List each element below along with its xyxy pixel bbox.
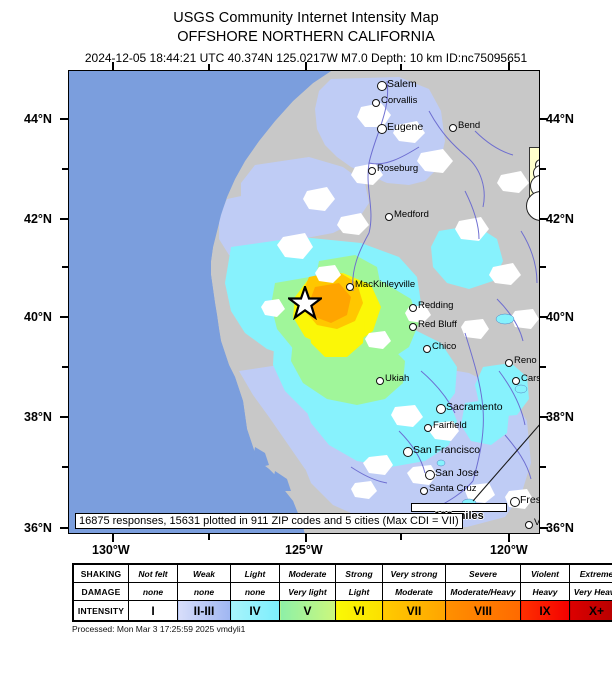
city-marker	[525, 521, 533, 529]
scale-row-intensity: INTENSITY III-IIIIVVVIVIIVIIIIXX+	[73, 601, 612, 622]
city-marker	[423, 345, 431, 353]
lat-label-40n: 40°N	[24, 310, 52, 324]
event-region-title: OFFSHORE NORTHERN CALIFORNIA	[0, 28, 612, 47]
scale-cell-intensity: VIII	[446, 601, 521, 622]
lat-label-44n: 44°N	[24, 112, 52, 126]
city-label: Santa Cruz	[429, 483, 477, 494]
scale-cell-intensity: IX	[521, 601, 570, 622]
scale-row-shaking: SHAKING Not feltWeakLightModerateStrongV…	[73, 564, 612, 583]
city-label: Redding	[418, 300, 453, 311]
city-label: Medford	[394, 209, 429, 220]
city-marker	[377, 124, 387, 134]
scale-row-label-intensity: INTENSITY	[73, 601, 129, 622]
city-marker	[377, 81, 387, 91]
lat-label-44n-right: 44°N	[546, 112, 574, 126]
city-marker	[505, 359, 513, 367]
scale-cell-shaking: Light	[231, 564, 280, 583]
city-marker	[403, 447, 413, 457]
scale-cell-damage: none	[178, 583, 231, 601]
scale-cell-shaking: Not felt	[129, 564, 178, 583]
lon-label-130w: 130°W	[92, 543, 130, 557]
city-label: Fresno	[520, 494, 539, 506]
scale-cell-shaking: Violent	[521, 564, 570, 583]
scale-cell-shaking: Very strong	[383, 564, 446, 583]
scale-cell-shaking: Severe	[446, 564, 521, 583]
header-block: USGS Community Internet Intensity Map OF…	[0, 0, 612, 69]
city-marker	[425, 470, 435, 480]
city-label: Carson City	[521, 373, 539, 384]
scale-row-label-damage: DAMAGE	[73, 583, 129, 601]
city-label: Eugene	[387, 121, 423, 133]
scale-cell-intensity: X+	[570, 601, 612, 622]
lat-label-38n-right: 38°N	[546, 410, 574, 424]
scale-cell-shaking: Moderate	[280, 564, 336, 583]
processed-timestamp: Processed: Mon Mar 3 17:25:59 2025 vmdyl…	[72, 624, 245, 634]
city-marker	[409, 304, 417, 312]
city-marker	[436, 404, 446, 414]
lat-label-38n: 38°N	[24, 410, 52, 424]
intensity-scale-table: SHAKING Not feltWeakLightModerateStrongV…	[72, 563, 612, 622]
city-size-legend: CITY SIZE <10,00010,000+100,000+2M+	[529, 147, 539, 209]
lat-label-42n-right: 42°N	[546, 212, 574, 226]
scale-cell-intensity: IV	[231, 601, 280, 622]
scale-cell-intensity: V	[280, 601, 336, 622]
lon-label-125w: 125°W	[285, 543, 323, 557]
scale-cell-damage: Heavy	[521, 583, 570, 601]
city-label: Ukiah	[385, 373, 409, 384]
intensity-map[interactable]: SalemCorvallisEugeneBendRoseburgMedfordM…	[68, 70, 540, 534]
city-label: Reno	[514, 355, 537, 366]
scale-cell-shaking: Weak	[178, 564, 231, 583]
scale-cell-shaking: Extreme	[570, 564, 612, 583]
city-marker	[372, 99, 380, 107]
lat-label-36n: 36°N	[24, 521, 52, 535]
scale-cell-shaking: Strong	[336, 564, 383, 583]
city-marker	[510, 497, 520, 507]
city-marker	[512, 377, 520, 385]
city-marker	[346, 283, 354, 291]
scale-cell-damage: none	[231, 583, 280, 601]
city-label: MacKinleyville	[355, 279, 415, 290]
response-caption: 16875 responses, 15631 plotted in 911 ZI…	[75, 513, 463, 529]
scale-cell-damage: Very light	[280, 583, 336, 601]
scale-row-label-shaking: SHAKING	[73, 564, 129, 583]
city-label: Chico	[432, 341, 456, 352]
scale-cell-intensity: VII	[383, 601, 446, 622]
city-marker	[449, 124, 457, 132]
scale-cell-intensity: II-III	[178, 601, 231, 622]
scale-cell-intensity: I	[129, 601, 178, 622]
city-marker	[368, 167, 376, 175]
page-title: USGS Community Internet Intensity Map	[0, 0, 612, 28]
scale-cell-damage: none	[129, 583, 178, 601]
lat-label-40n-right: 40°N	[546, 310, 574, 324]
city-label: Roseburg	[377, 163, 418, 174]
lat-label-42n: 42°N	[24, 212, 52, 226]
city-marker	[409, 323, 417, 331]
scale-cell-damage: Very Heavy	[570, 583, 612, 601]
scale-cell-intensity: VI	[336, 601, 383, 622]
city-label: Red Bluff	[418, 319, 457, 330]
city-marker	[420, 487, 428, 495]
city-label: Corvallis	[381, 95, 417, 106]
scale-cell-damage: Moderate/Heavy	[446, 583, 521, 601]
city-label: San Francisco	[413, 444, 480, 456]
city-label: Visalia	[534, 517, 539, 528]
lon-label-120w: 120°W	[490, 543, 528, 557]
lat-label-36n-right: 36°N	[546, 521, 574, 535]
scale-cell-damage: Moderate	[383, 583, 446, 601]
scale-cell-damage: Light	[336, 583, 383, 601]
scale-row-damage: DAMAGE nonenonenoneVery lightLightModera…	[73, 583, 612, 601]
city-label: Fairfield	[433, 420, 467, 431]
city-marker-layer: SalemCorvallisEugeneBendRoseburgMedfordM…	[69, 71, 539, 533]
city-label: Salem	[387, 78, 417, 90]
city-marker	[385, 213, 393, 221]
city-label: Sacramento	[446, 401, 503, 413]
city-label: Bend	[458, 120, 480, 131]
city-label: San Jose	[435, 467, 479, 479]
city-marker	[376, 377, 384, 385]
city-marker	[424, 424, 432, 432]
